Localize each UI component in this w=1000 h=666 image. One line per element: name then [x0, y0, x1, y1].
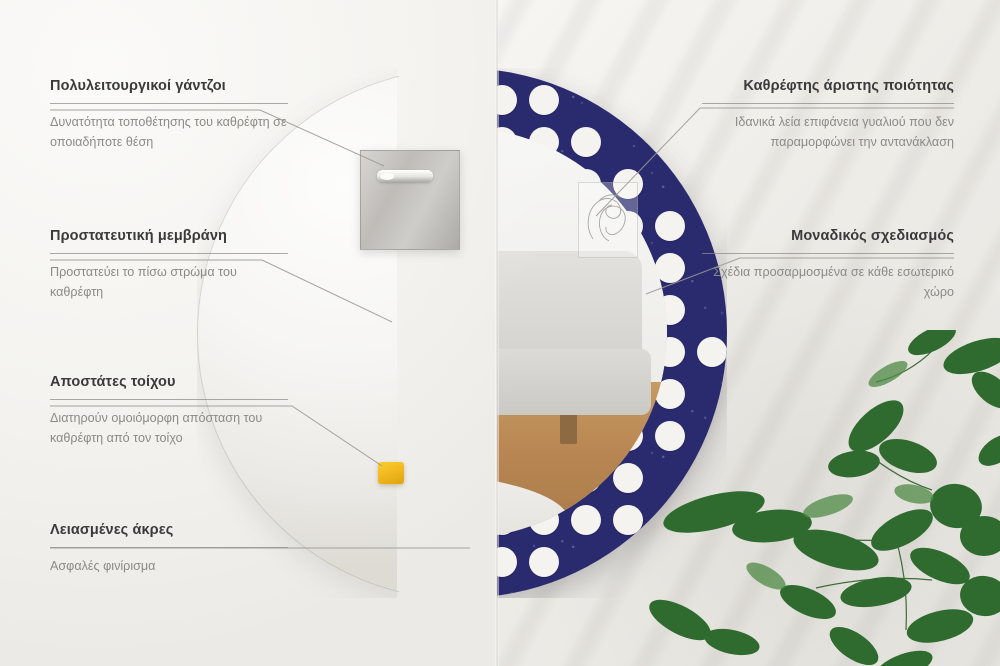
callout-membrane-body: Προστατεύει το πίσω στρώμα του καθρέφτη [50, 263, 288, 302]
callout-spacers: Αποστάτες τοίχου Διατηρούν ομοιόμορφη απ… [50, 374, 288, 448]
callout-quality-title: Καθρέφτης άριστης ποιότητας [702, 78, 954, 95]
callout-spacers-body: Διατηρούν ομοιόμορφη απόσταση του καθρέφ… [50, 409, 288, 448]
callout-design-title: Μοναδικός σχεδιασμός [702, 228, 954, 245]
callout-membrane-rule [50, 253, 288, 254]
callout-quality-body: Ιδανικά λεία επιφάνεια γυαλιού που δεν π… [702, 113, 954, 152]
callout-hooks-title: Πολυλειτουργικοί γάντζοι [50, 78, 288, 95]
callout-hooks-body: Δυνατότητα τοποθέτησης του καθρέφτη σε ο… [50, 113, 288, 152]
callout-design-rule [702, 253, 954, 254]
frame-dot [529, 547, 559, 577]
reflection-sofa-leg-right [560, 415, 576, 444]
callout-membrane-title: Προστατευτική μεμβράνη [50, 228, 288, 245]
foliage-decoration [640, 330, 1000, 666]
callout-edges-title: Λειασμένες άκρες [50, 522, 288, 539]
callout-design-body: Σχέδια προσαρμοσμένα σε κάθε εσωτερικό χ… [702, 263, 954, 302]
callout-spacers-title: Αποστάτες τοίχου [50, 374, 288, 391]
callout-edges: Λειασμένες άκρες Ασφαλές φινίρισμα [50, 522, 288, 577]
bracket-keyhole-slot [377, 170, 433, 182]
callout-quality: Καθρέφτης άριστης ποιότητας Ιδανικά λεία… [702, 78, 954, 152]
callout-membrane: Προστατευτική μεμβράνη Προστατεύει το πί… [50, 228, 288, 302]
callout-hooks: Πολυλειτουργικοί γάντζοι Δυνατότητα τοπο… [50, 78, 288, 152]
callout-design: Μοναδικός σχεδιασμός Σχέδια προσαρμοσμέν… [702, 228, 954, 302]
callout-spacers-rule [50, 399, 288, 400]
callout-hooks-rule [50, 103, 288, 104]
wall-spacer-yellow [378, 462, 404, 484]
frame-dot [529, 85, 559, 115]
panel-divider [495, 0, 499, 666]
hanging-bracket-hook [360, 150, 460, 250]
callout-quality-rule [702, 103, 954, 104]
callout-edges-rule [50, 547, 288, 548]
callout-edges-body: Ασφαλές φινίρισμα [50, 557, 288, 577]
brand-watermark-logo [578, 182, 638, 258]
infographic-canvas: Πολυλειτουργικοί γάντζοι Δυνατότητα τοπο… [0, 0, 1000, 666]
